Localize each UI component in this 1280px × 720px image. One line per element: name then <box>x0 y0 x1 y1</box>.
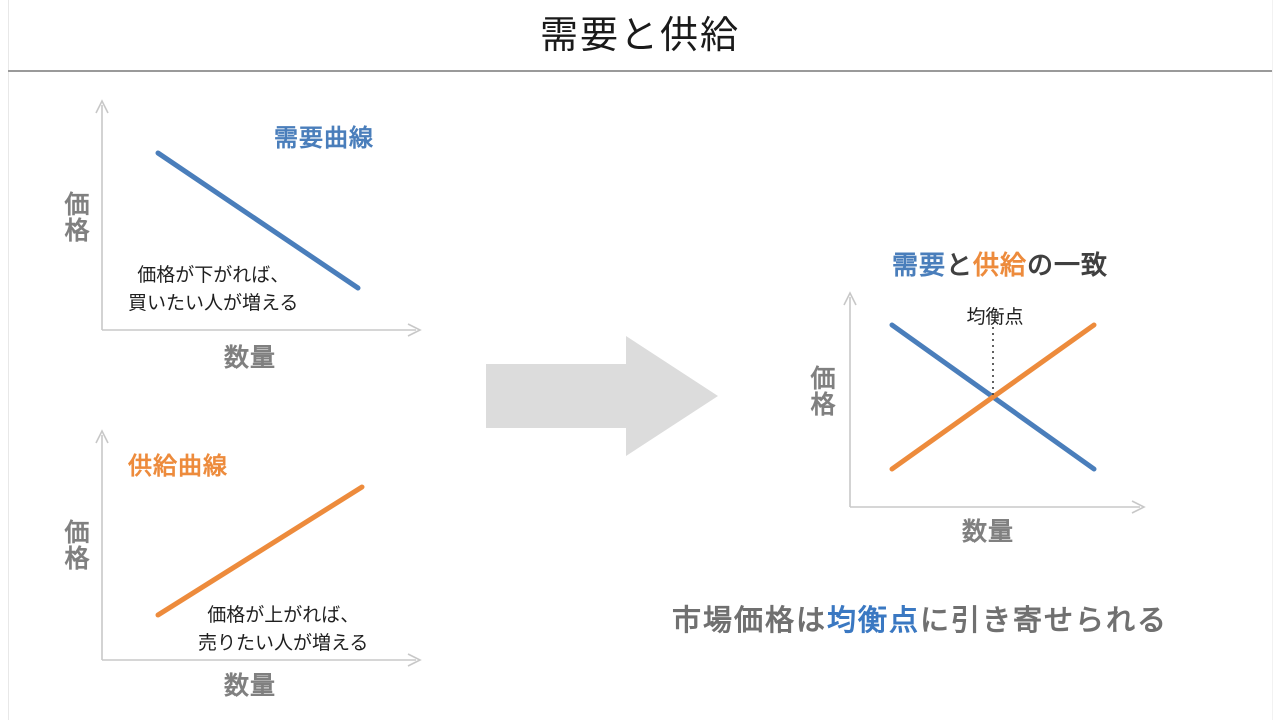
equilibrium-heading-demand: 需要 <box>892 251 946 281</box>
supply-y-axis-label: 価格 <box>62 520 92 571</box>
conclusion-suffix: に引き寄せられる <box>920 603 1168 637</box>
demand-annotation-line-2: 買いたい人が増える <box>128 290 298 318</box>
supply-annotation: 価格が上がれば、 売りたい人が増える <box>198 602 368 657</box>
equilibrium-y-axis-label: 価格 <box>808 366 838 417</box>
demand-y-axis-label: 価格 <box>62 192 92 243</box>
conclusion-text: 市場価格は均衡点に引き寄せられる <box>620 600 1220 640</box>
conclusion-accent: 均衡点 <box>827 603 920 637</box>
equilibrium-heading-connector: と <box>946 251 973 281</box>
equilibrium-heading-supply: 供給 <box>973 251 1027 281</box>
demand-x-axis-label: 数量 <box>224 338 276 374</box>
supply-y-axis-label-text: 価格 <box>64 518 89 573</box>
equilibrium-heading: 需要と供給の一致 <box>860 245 1140 282</box>
slide-right-border <box>1272 0 1273 720</box>
conclusion-prefix: 市場価格は <box>672 603 827 637</box>
slide-title: 需要と供給 <box>0 10 1280 60</box>
supply-annotation-line-1: 価格が上がれば、 <box>198 602 368 630</box>
equilibrium-heading-tail: の一致 <box>1027 251 1108 281</box>
equilibrium-point-label: 均衡点 <box>920 302 1070 329</box>
slide-left-border <box>8 0 9 720</box>
title-divider <box>8 70 1272 72</box>
supply-curve-name: 供給曲線 <box>128 446 228 481</box>
equilibrium-y-axis-label-text: 価格 <box>810 364 835 419</box>
slide-canvas: 需要と供給 価格 数量 需要曲線 価格が下がれば、 買いたい人が増える <box>0 0 1280 720</box>
demand-y-axis-label-text: 価格 <box>64 190 89 245</box>
flow-arrow <box>486 336 718 461</box>
demand-annotation-line-1: 価格が下がれば、 <box>128 262 298 290</box>
arrow-right-icon <box>486 336 718 456</box>
arrow-right-shape <box>486 336 718 456</box>
supply-curve-line <box>158 487 362 615</box>
demand-annotation: 価格が下がれば、 買いたい人が増える <box>128 262 298 317</box>
supply-x-axis-label: 数量 <box>224 666 276 702</box>
demand-curve-name: 需要曲線 <box>274 118 374 153</box>
equilibrium-x-axis-label: 数量 <box>962 512 1014 548</box>
supply-annotation-line-2: 売りたい人が増える <box>198 630 368 658</box>
